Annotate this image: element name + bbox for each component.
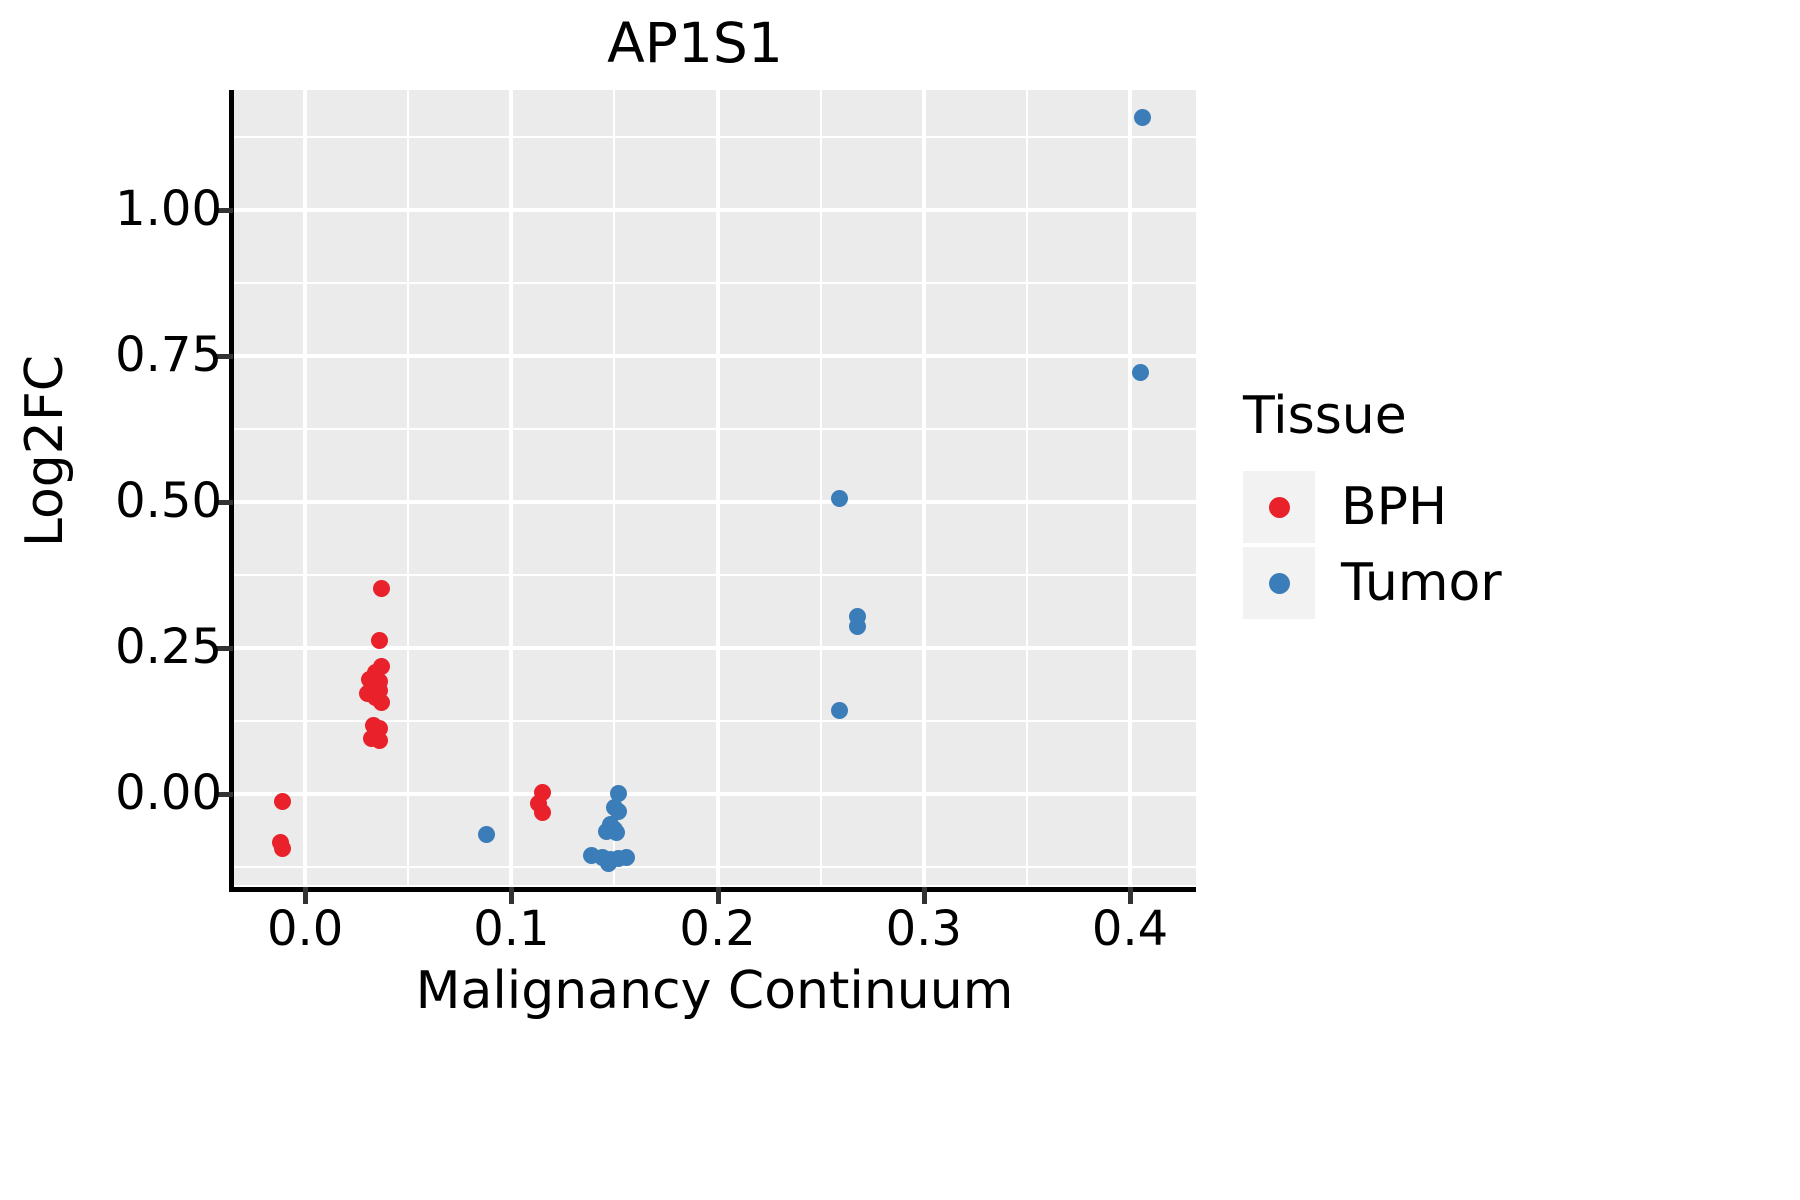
data-point-tumor <box>1134 109 1151 126</box>
legend-dot-bph-icon <box>1269 497 1290 518</box>
legend-key-bph <box>1243 471 1315 543</box>
gridline-major-horizontal <box>233 354 1196 358</box>
gridline-minor-vertical <box>1232 90 1234 885</box>
x-axis-tick-label: 0.2 <box>638 900 798 958</box>
data-point-bph <box>373 694 390 711</box>
legend-title: Tissue <box>1243 385 1643 447</box>
legend-dot-tumor-icon <box>1269 573 1290 594</box>
gridline-major-vertical <box>303 90 307 885</box>
data-point-tumor <box>608 824 625 841</box>
gridline-major-horizontal <box>233 792 1196 796</box>
data-point-tumor <box>600 855 617 872</box>
data-point-tumor <box>618 849 635 866</box>
gridline-major-horizontal <box>233 208 1196 212</box>
y-axis-tick-label: 0.00 <box>115 769 222 817</box>
gridline-minor-horizontal <box>233 136 1196 138</box>
legend-label-bph: BPH <box>1341 476 1447 538</box>
legend-key-tumor <box>1243 547 1315 619</box>
y-axis-tick-label: 1.00 <box>115 185 222 233</box>
plot-panel <box>233 90 1196 885</box>
data-point-tumor <box>478 826 495 843</box>
data-point-bph <box>371 632 388 649</box>
gridline-minor-horizontal <box>233 428 1196 430</box>
data-point-bph <box>274 840 291 857</box>
legend-item-bph[interactable]: BPH <box>1243 469 1643 545</box>
gridline-major-vertical <box>716 90 720 885</box>
gridline-minor-horizontal <box>233 866 1196 868</box>
y-axis-tick-label: 0.25 <box>115 623 222 671</box>
data-point-bph <box>373 580 390 597</box>
gridline-major-vertical <box>509 90 513 885</box>
legend-label-tumor: Tumor <box>1341 552 1502 614</box>
y-axis-tick-label: 0.75 <box>115 331 222 379</box>
data-point-bph <box>274 793 291 810</box>
data-point-tumor <box>831 490 848 507</box>
y-axis-tick-label: 0.50 <box>115 477 222 525</box>
gridline-major-vertical <box>1128 90 1132 885</box>
data-point-tumor <box>831 702 848 719</box>
y-axis-title: Log2FC <box>14 251 76 651</box>
gridline-major-horizontal <box>233 500 1196 504</box>
x-axis-tick-label: 0.1 <box>431 900 591 958</box>
data-point-tumor <box>849 618 866 635</box>
data-point-bph <box>534 804 551 821</box>
x-axis-line <box>229 887 1196 892</box>
x-axis-tick-label: 0.3 <box>844 900 1004 958</box>
x-axis-title: Malignancy Continuum <box>233 960 1196 1022</box>
legend: Tissue BPH Tumor <box>1243 385 1643 621</box>
gridline-minor-horizontal <box>233 574 1196 576</box>
chart-root: AP1S1 0.000.250.500.751.000.00.10.20.30.… <box>0 0 1800 1200</box>
gridline-minor-horizontal <box>233 282 1196 284</box>
x-axis-tick-label: 0.0 <box>225 900 385 958</box>
page-title: AP1S1 <box>0 8 1390 78</box>
data-point-bph <box>371 732 388 749</box>
x-axis-tick-label: 0.4 <box>1050 900 1210 958</box>
gridline-major-vertical <box>922 90 926 885</box>
data-point-tumor <box>1132 364 1149 381</box>
legend-item-tumor[interactable]: Tumor <box>1243 545 1643 621</box>
